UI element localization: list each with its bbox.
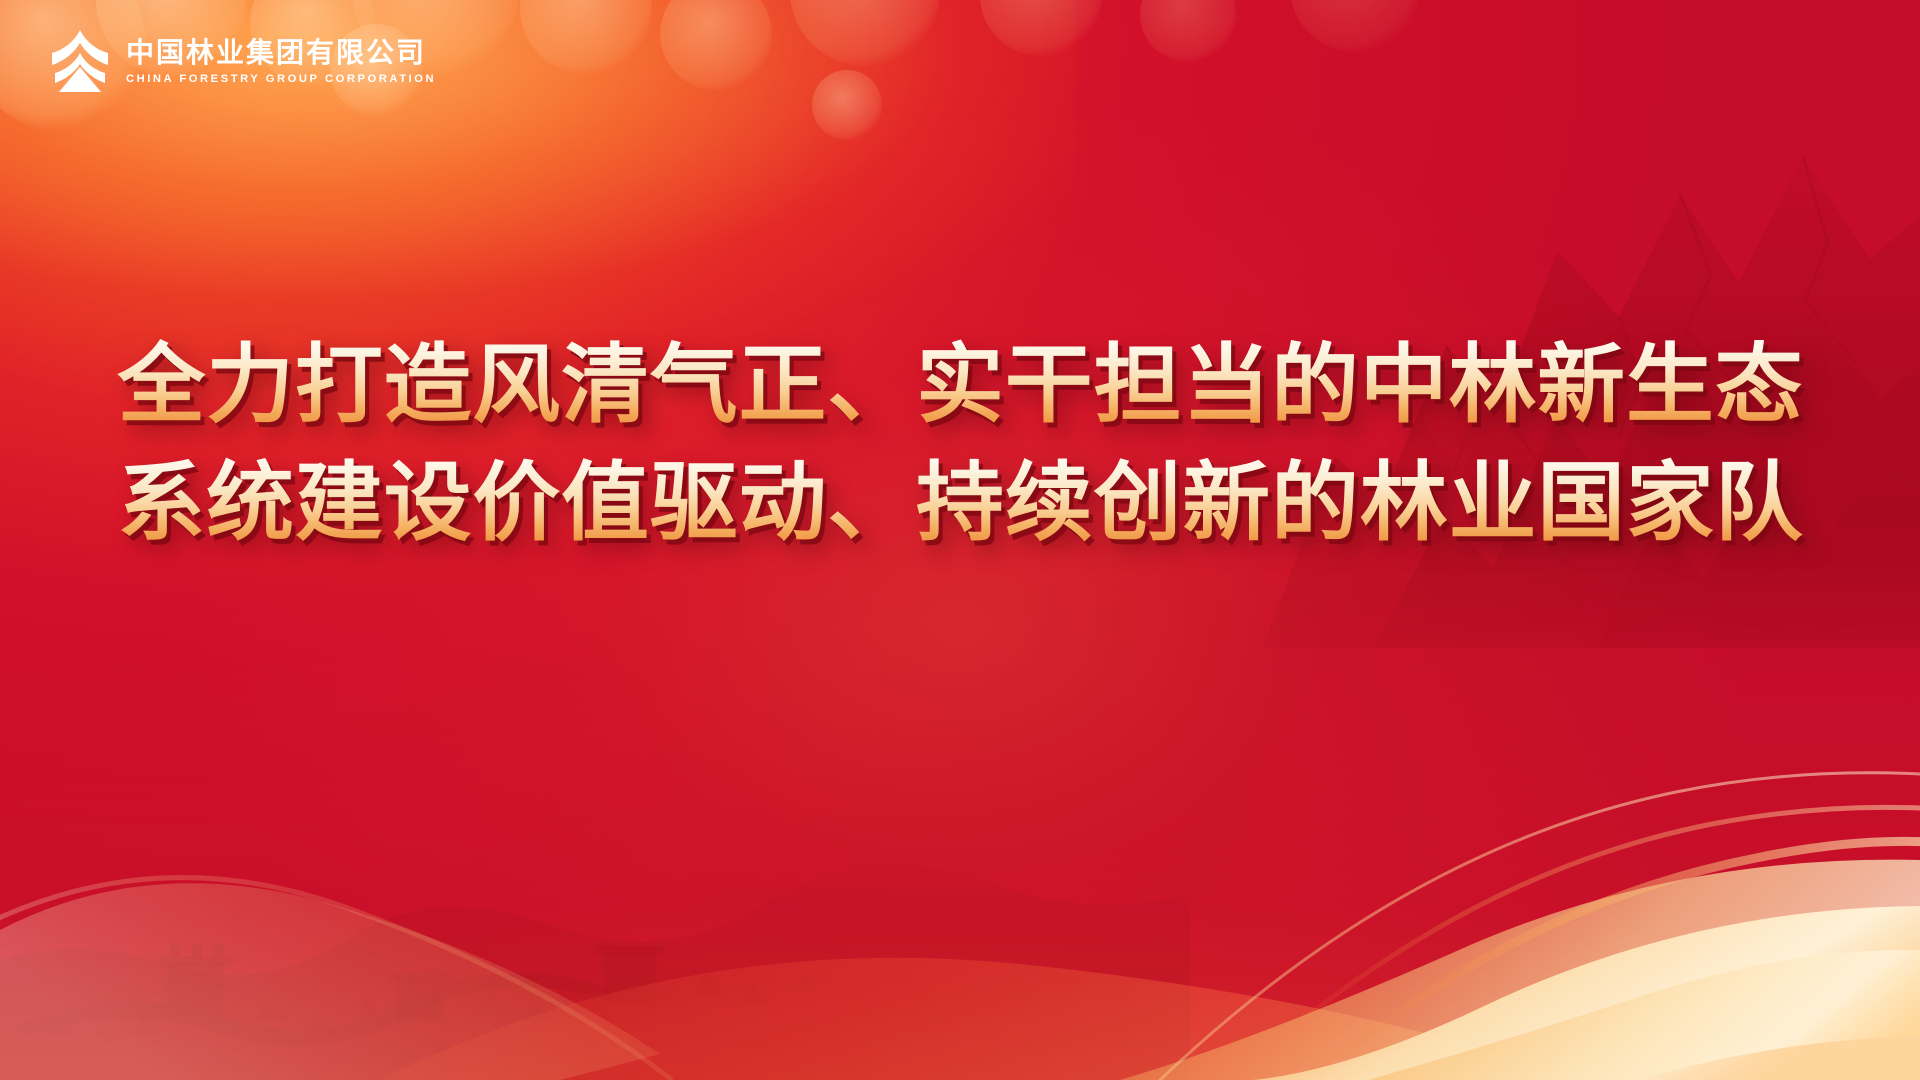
company-name-cn: 中国林业集团有限公司 (126, 37, 436, 68)
pagoda-mountain-logo-icon (48, 28, 112, 94)
brand-logo-text: 中国林业集团有限公司 CHINA FORESTRY GROUP CORPORAT… (126, 37, 436, 86)
headline-line-1: 全力打造风清气正、实干担当的中林新生态 (117, 336, 1803, 436)
brand-logo[interactable]: 中国林业集团有限公司 CHINA FORESTRY GROUP CORPORAT… (48, 28, 436, 94)
headline-line-2: 系统建设价值驱动、持续创新的林业国家队 (117, 454, 1803, 554)
banner-canvas: 中国林业集团有限公司 CHINA FORESTRY GROUP CORPORAT… (0, 0, 1920, 1080)
headline-block: 全力打造风清气正、实干担当的中林新生态 系统建设价值驱动、持续创新的林业国家队 (0, 336, 1920, 554)
bottom-haze (0, 648, 1920, 1080)
company-name-en: CHINA FORESTRY GROUP CORPORATION (126, 73, 436, 85)
